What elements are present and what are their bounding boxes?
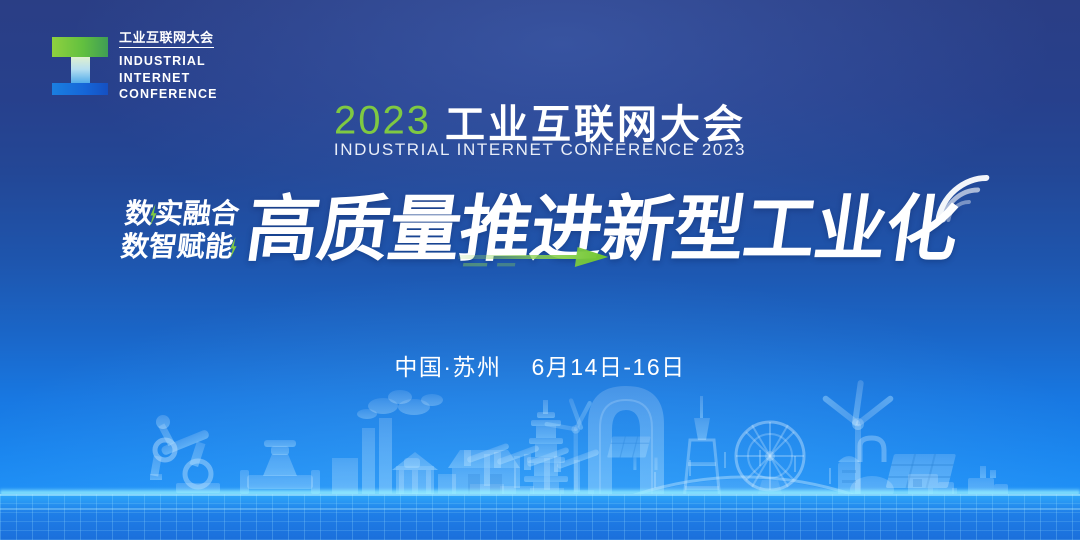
water-foreground	[0, 494, 1080, 540]
industrial-valve-icon	[240, 440, 320, 494]
solar-panel-array-icon	[886, 454, 957, 502]
conference-poster: 工业互联网大会 INDUSTRIAL INTERNET CONFERENCE 2…	[0, 0, 1080, 540]
event-meta: 中国·苏州6月14日-16日	[0, 348, 1080, 382]
title-year: 2023	[334, 99, 431, 143]
horizon-glow-line	[0, 488, 1080, 498]
logo-t-monogram-icon	[52, 37, 108, 95]
title-english-subtitle: INDUSTRIAL INTERNET CONFERENCE 2023	[0, 140, 1080, 160]
logo-en-line-2: INTERNET	[119, 70, 218, 87]
event-location: 中国·苏州	[394, 354, 501, 380]
solar-panel-array-icon	[607, 436, 657, 469]
water-perspective-grid	[0, 494, 1080, 540]
headline-sub-line-1: 数实融合	[123, 200, 240, 228]
gate-of-the-orient-icon	[588, 386, 664, 500]
logo-en-line-1: INDUSTRIAL	[119, 53, 218, 70]
robot-arm-icon	[150, 415, 220, 493]
water-light-streaks	[0, 494, 1080, 540]
skyline-shapes	[150, 380, 1008, 506]
sub2-chars-a: 数智赋	[119, 231, 207, 262]
sub1-char-a: 数	[123, 198, 155, 229]
suzhou-pavilion-icon	[392, 452, 438, 498]
logo-chinese-name: 工业互联网大会	[119, 31, 214, 48]
oil-pumpjacks-icon	[464, 443, 600, 500]
freight-trucks-icon	[908, 466, 1008, 504]
smoke-clouds-icon	[357, 390, 443, 419]
sub1-char-c: 融合	[181, 198, 241, 229]
headline-main-text-wrap: 高质量推进新型工业化	[242, 194, 962, 266]
headline-main-text: 高质量推进新型工业化	[241, 190, 962, 270]
arch-bridge-icon	[620, 450, 868, 506]
ferris-wheel-icon	[736, 422, 804, 500]
sub2-char-b: 能	[203, 231, 235, 262]
wind-turbine-icon	[821, 380, 894, 500]
traditional-hall-icon	[448, 450, 520, 498]
headline-sub-slogans: 数实融合 数智赋能	[119, 200, 241, 261]
wind-turbine-icon	[544, 398, 592, 501]
tv-tower-icon	[684, 396, 720, 500]
headline-sub-line-2: 数智赋能	[119, 233, 236, 261]
factory-smokestacks-icon	[332, 418, 456, 494]
event-date: 6月14日-16日	[532, 354, 686, 380]
headline-slogan: 数实融合 数智赋能 高质量推进新型工业化	[0, 176, 1080, 284]
pagoda-icon	[524, 400, 568, 502]
sub1-char-b: 实	[153, 198, 185, 229]
storage-tanks-icon	[838, 438, 898, 504]
